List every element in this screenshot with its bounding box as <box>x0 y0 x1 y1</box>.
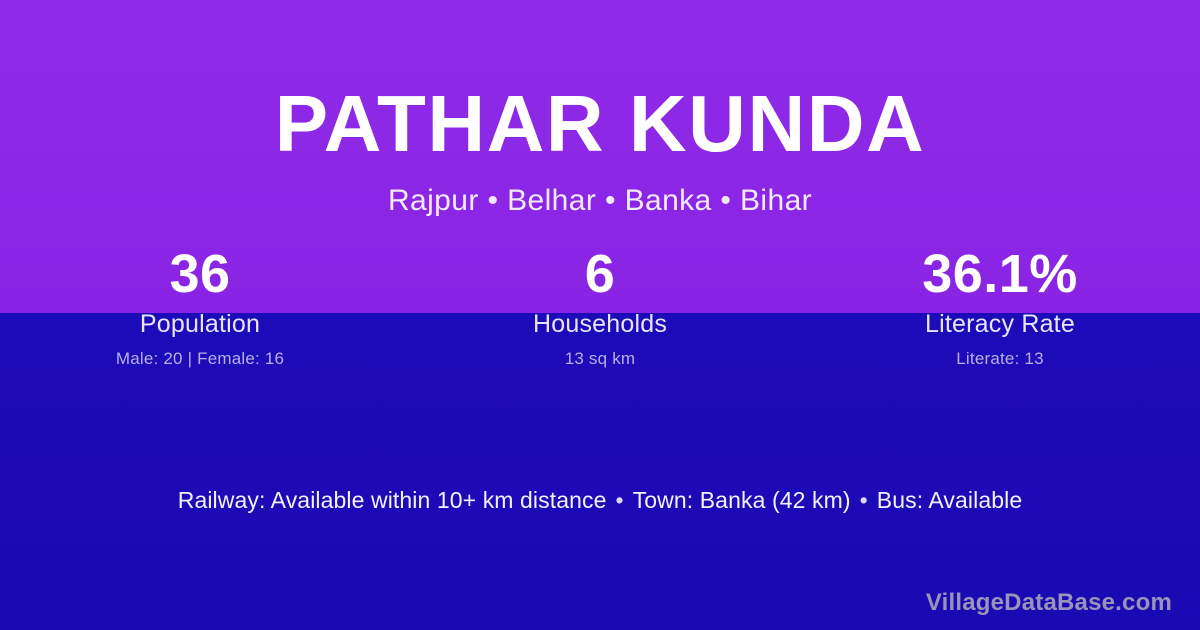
stat-households-label: Households <box>400 309 800 339</box>
stat-literacy-rate-sub: Literate: 13 <box>800 348 1200 369</box>
info-bus: Bus: Available <box>877 487 1022 513</box>
stat-population: 36 Population Male: 20 | Female: 16 <box>0 243 400 369</box>
info-town: Town: Banka (42 km) <box>633 487 851 513</box>
stat-population-label: Population <box>0 309 400 339</box>
stat-population-sub: Male: 20 | Female: 16 <box>0 348 400 369</box>
stat-households: 6 Households 13 sq km <box>400 243 800 369</box>
location-breadcrumb: Rajpur • Belhar • Banka • Bihar <box>0 183 1200 219</box>
info-railway: Railway: Available within 10+ km distanc… <box>178 487 607 513</box>
site-brand: VillageDataBase.com <box>926 588 1172 618</box>
stat-households-value: 6 <box>400 243 800 305</box>
stat-literacy-rate-value: 36.1% <box>800 243 1200 305</box>
stat-households-sub: 13 sq km <box>400 348 800 369</box>
info-separator-1: • <box>607 485 633 515</box>
stat-population-value: 36 <box>0 243 400 305</box>
info-separator-2: • <box>851 485 877 515</box>
stats-row: 36 Population Male: 20 | Female: 16 6 Ho… <box>0 243 1200 369</box>
page-title: PATHAR KUNDA <box>0 80 1200 168</box>
stat-literacy-rate: 36.1% Literacy Rate Literate: 13 <box>800 243 1200 369</box>
stat-literacy-rate-label: Literacy Rate <box>800 309 1200 339</box>
connectivity-info: Railway: Available within 10+ km distanc… <box>0 485 1200 515</box>
